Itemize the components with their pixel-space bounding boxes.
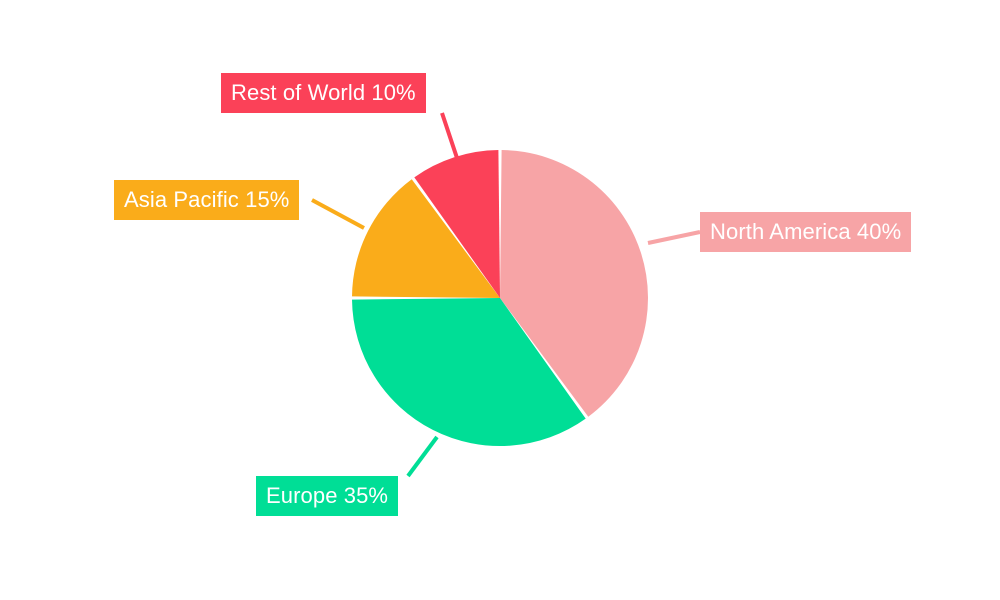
pie-label-asia-pacific: Asia Pacific 15% bbox=[114, 180, 299, 220]
pie-chart-canvas bbox=[0, 0, 1000, 600]
pie-label-rest-of-world: Rest of World 10% bbox=[221, 73, 426, 113]
leader-line-europe bbox=[408, 437, 437, 476]
leader-line-asia-pacific bbox=[312, 200, 364, 228]
pie-label-north-america: North America 40% bbox=[700, 212, 911, 252]
leader-line-rest-of-world bbox=[442, 113, 457, 158]
pie-chart-figure: North America 40% Europe 35% Asia Pacifi… bbox=[0, 0, 1000, 600]
pie-label-europe: Europe 35% bbox=[256, 476, 398, 516]
leader-line-north-america bbox=[648, 232, 700, 243]
